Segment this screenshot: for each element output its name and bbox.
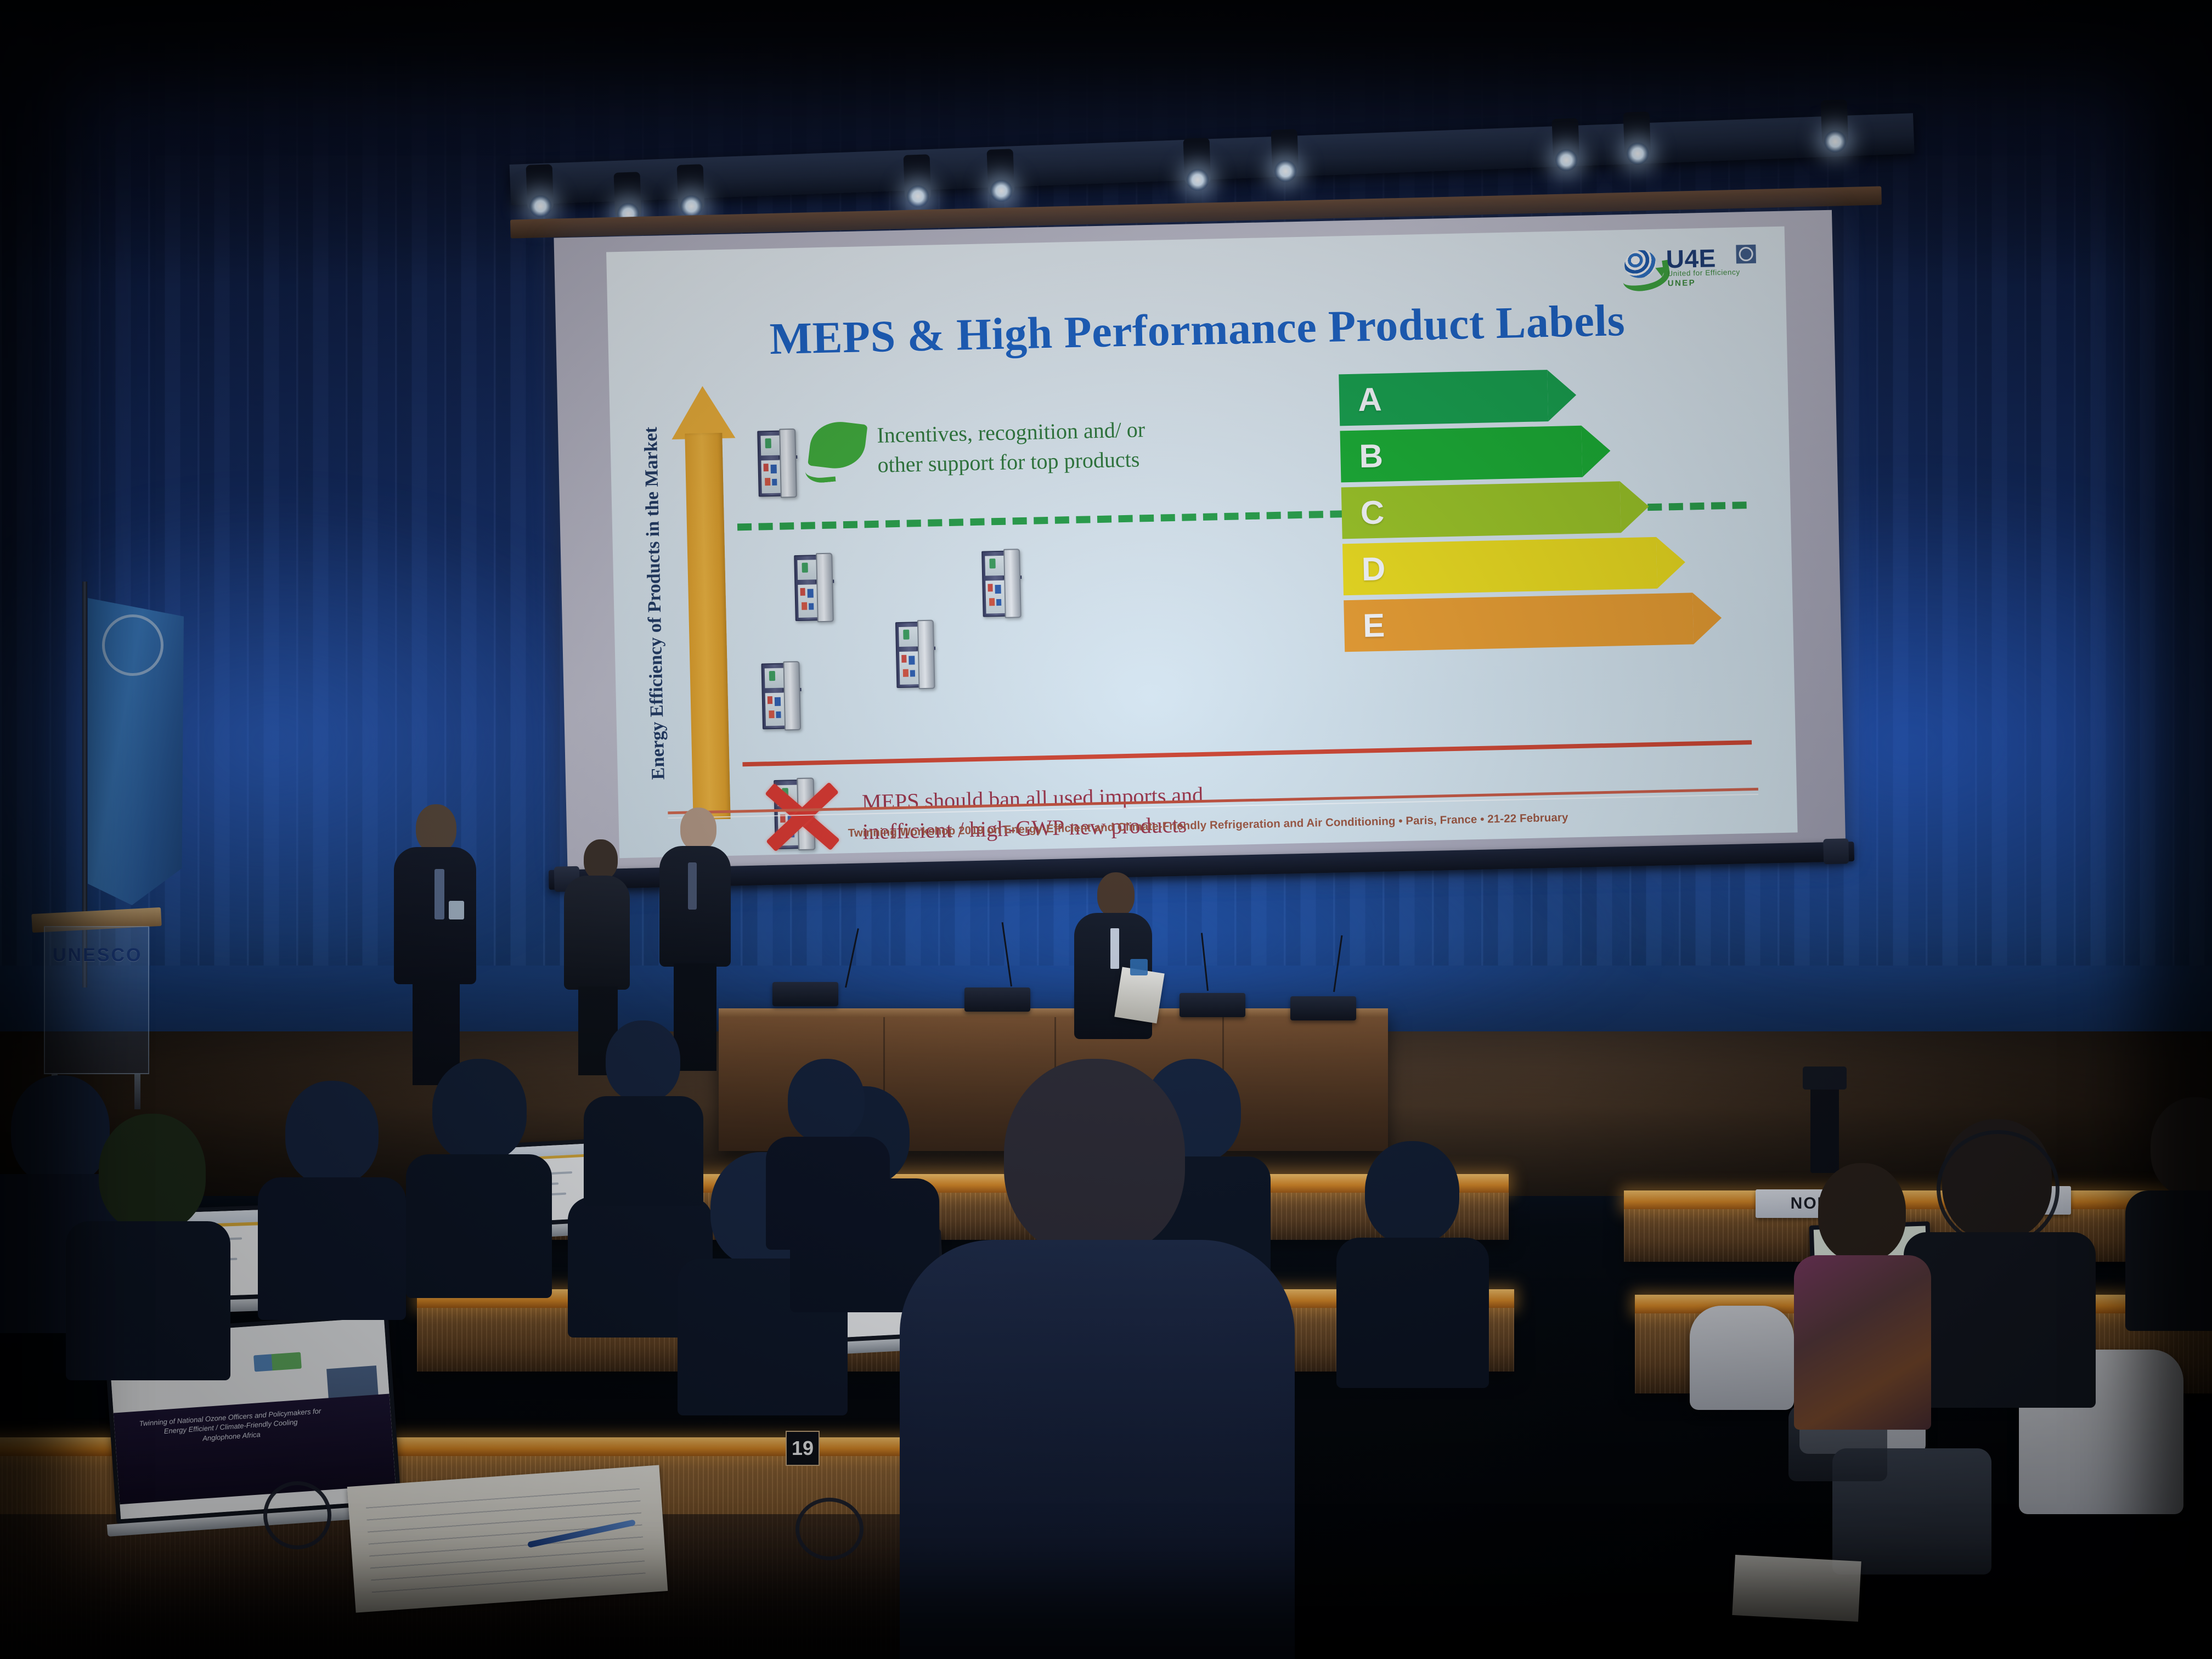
audience-member: [60, 1114, 225, 1372]
energy-grade-label: D: [1361, 550, 1386, 588]
audience-member: [406, 1059, 549, 1295]
energy-label-row: C: [1341, 479, 1726, 539]
stage-light-icon: [1183, 138, 1211, 186]
energy-grade-label: E: [1362, 606, 1385, 645]
stage-light-icon: [904, 154, 932, 202]
energy-grade-label: B: [1359, 437, 1384, 475]
stage-light-icon: [677, 164, 705, 212]
energy-label-row: D: [1342, 535, 1728, 595]
refrigerator-icon: [895, 621, 940, 688]
audience-member: [768, 1059, 883, 1245]
podium-label: UNESCO: [53, 945, 142, 966]
un-flag: [88, 598, 184, 905]
slide-title: MEPS & High Performance Product Labels: [608, 291, 1787, 369]
camera-on-stand: [1810, 1085, 1839, 1173]
u4e-logo-small: [253, 1352, 302, 1372]
stage-light-icon: [0, 57, 34, 115]
stage-light-icon: [526, 164, 554, 212]
stage-light-icon: [1821, 99, 1849, 148]
energy-grade-label: A: [1357, 380, 1382, 419]
refrigerator-icon: [794, 554, 838, 621]
headphones-on-desk-2: [795, 1498, 889, 1558]
headphones-on-desk: [263, 1481, 362, 1547]
incentives-note: Incentives, recognition and/ or other su…: [877, 411, 1306, 479]
stage-light-icon: [0, 0, 34, 58]
stage-light-icon: [1271, 129, 1299, 177]
meps-floor-line: [742, 740, 1752, 766]
audience-member-headset: [1909, 1119, 2090, 1404]
audience-member: [2129, 1097, 2212, 1328]
energy-label-row: A: [1339, 366, 1724, 426]
interpretation-headset-icon: [1937, 1130, 2059, 1248]
audience-member-patterned: [1794, 1163, 1931, 1426]
energy-label-row: E: [1344, 592, 1729, 652]
energy-label-chart: A B C D: [1339, 366, 1729, 657]
u4e-tagline: United for Efficiency: [1667, 268, 1740, 278]
audience-member: [1339, 1141, 1481, 1383]
u4e-logo: U4E United for Efficiency UNEP: [1622, 239, 1757, 292]
audience-member-foreground: [900, 1059, 1295, 1659]
stage-light-icon: [1623, 111, 1651, 160]
up-arrow-icon: [670, 385, 743, 820]
un-emblem-icon: [1736, 245, 1756, 264]
energy-label-row: B: [1340, 422, 1725, 482]
audience-member: [587, 1020, 697, 1201]
u4e-sub: UNEP: [1668, 278, 1696, 288]
conference-photo: U4E United for Efficiency UNEP MEPS & Hi…: [0, 0, 2212, 1659]
papers-right-desk: [1732, 1555, 1861, 1622]
row-number-plate: 19: [786, 1431, 820, 1466]
audience-member: [258, 1081, 400, 1317]
energy-grade-label: C: [1360, 493, 1385, 532]
stage-light-icon: [1552, 118, 1580, 166]
globe-swoosh-icon: [1622, 250, 1664, 285]
refrigerator-icon: [757, 430, 802, 497]
projection-screen: U4E United for Efficiency UNEP MEPS & Hi…: [554, 210, 1846, 883]
stage-light-icon: [987, 149, 1015, 197]
leaf-icon: [803, 421, 870, 484]
stage-light-icon: [0, 171, 34, 229]
refrigerator-icon: [981, 550, 1026, 617]
chair-right-far: [1690, 1306, 1794, 1410]
refrigerator-icon: [761, 663, 805, 730]
stage-light-icon: [0, 114, 34, 172]
stage-light-icon: [614, 172, 642, 220]
y-axis-label: Energy Efficiency of Products in the Mar…: [635, 394, 676, 812]
presentation-slide: U4E United for Efficiency UNEP MEPS & Hi…: [606, 227, 1798, 859]
